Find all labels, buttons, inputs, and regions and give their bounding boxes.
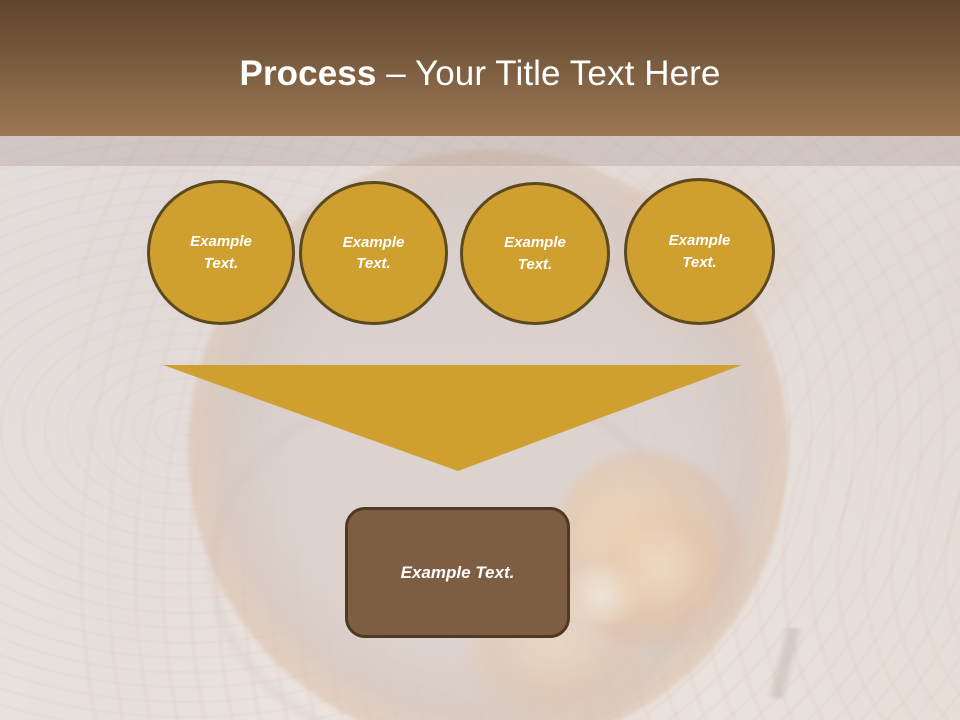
down-arrow-shape bbox=[163, 365, 742, 471]
step-label-line2: Text. bbox=[356, 253, 390, 274]
page-title: Process – Your Title Text Here bbox=[0, 0, 960, 136]
step-label-line1: Example bbox=[669, 230, 731, 251]
process-step-circle-4[interactable]: Example Text. bbox=[624, 178, 775, 325]
page-title-rest: – Your Title Text Here bbox=[376, 56, 720, 91]
step-label-line1: Example bbox=[343, 232, 405, 253]
process-step-circle-2[interactable]: Example Text. bbox=[299, 181, 448, 325]
step-label-line2: Text. bbox=[204, 253, 238, 274]
slide-header: Process – Your Title Text Here bbox=[0, 0, 960, 136]
down-arrow-icon bbox=[163, 365, 742, 471]
process-step-circle-3[interactable]: Example Text. bbox=[460, 182, 610, 325]
step-label-line2: Text. bbox=[518, 254, 552, 275]
result-box[interactable]: Example Text. bbox=[345, 507, 570, 638]
step-label-line2: Text. bbox=[682, 252, 716, 273]
step-label-line1: Example bbox=[190, 231, 252, 252]
header-shadow-band bbox=[0, 136, 960, 166]
arrow-polygon bbox=[163, 365, 742, 471]
slide: Process – Your Title Text Here Example T… bbox=[0, 0, 960, 720]
page-title-strong: Process bbox=[240, 56, 377, 91]
step-label-line1: Example bbox=[504, 232, 566, 253]
process-step-circle-1[interactable]: Example Text. bbox=[147, 180, 295, 325]
result-box-label: Example Text. bbox=[401, 563, 515, 583]
